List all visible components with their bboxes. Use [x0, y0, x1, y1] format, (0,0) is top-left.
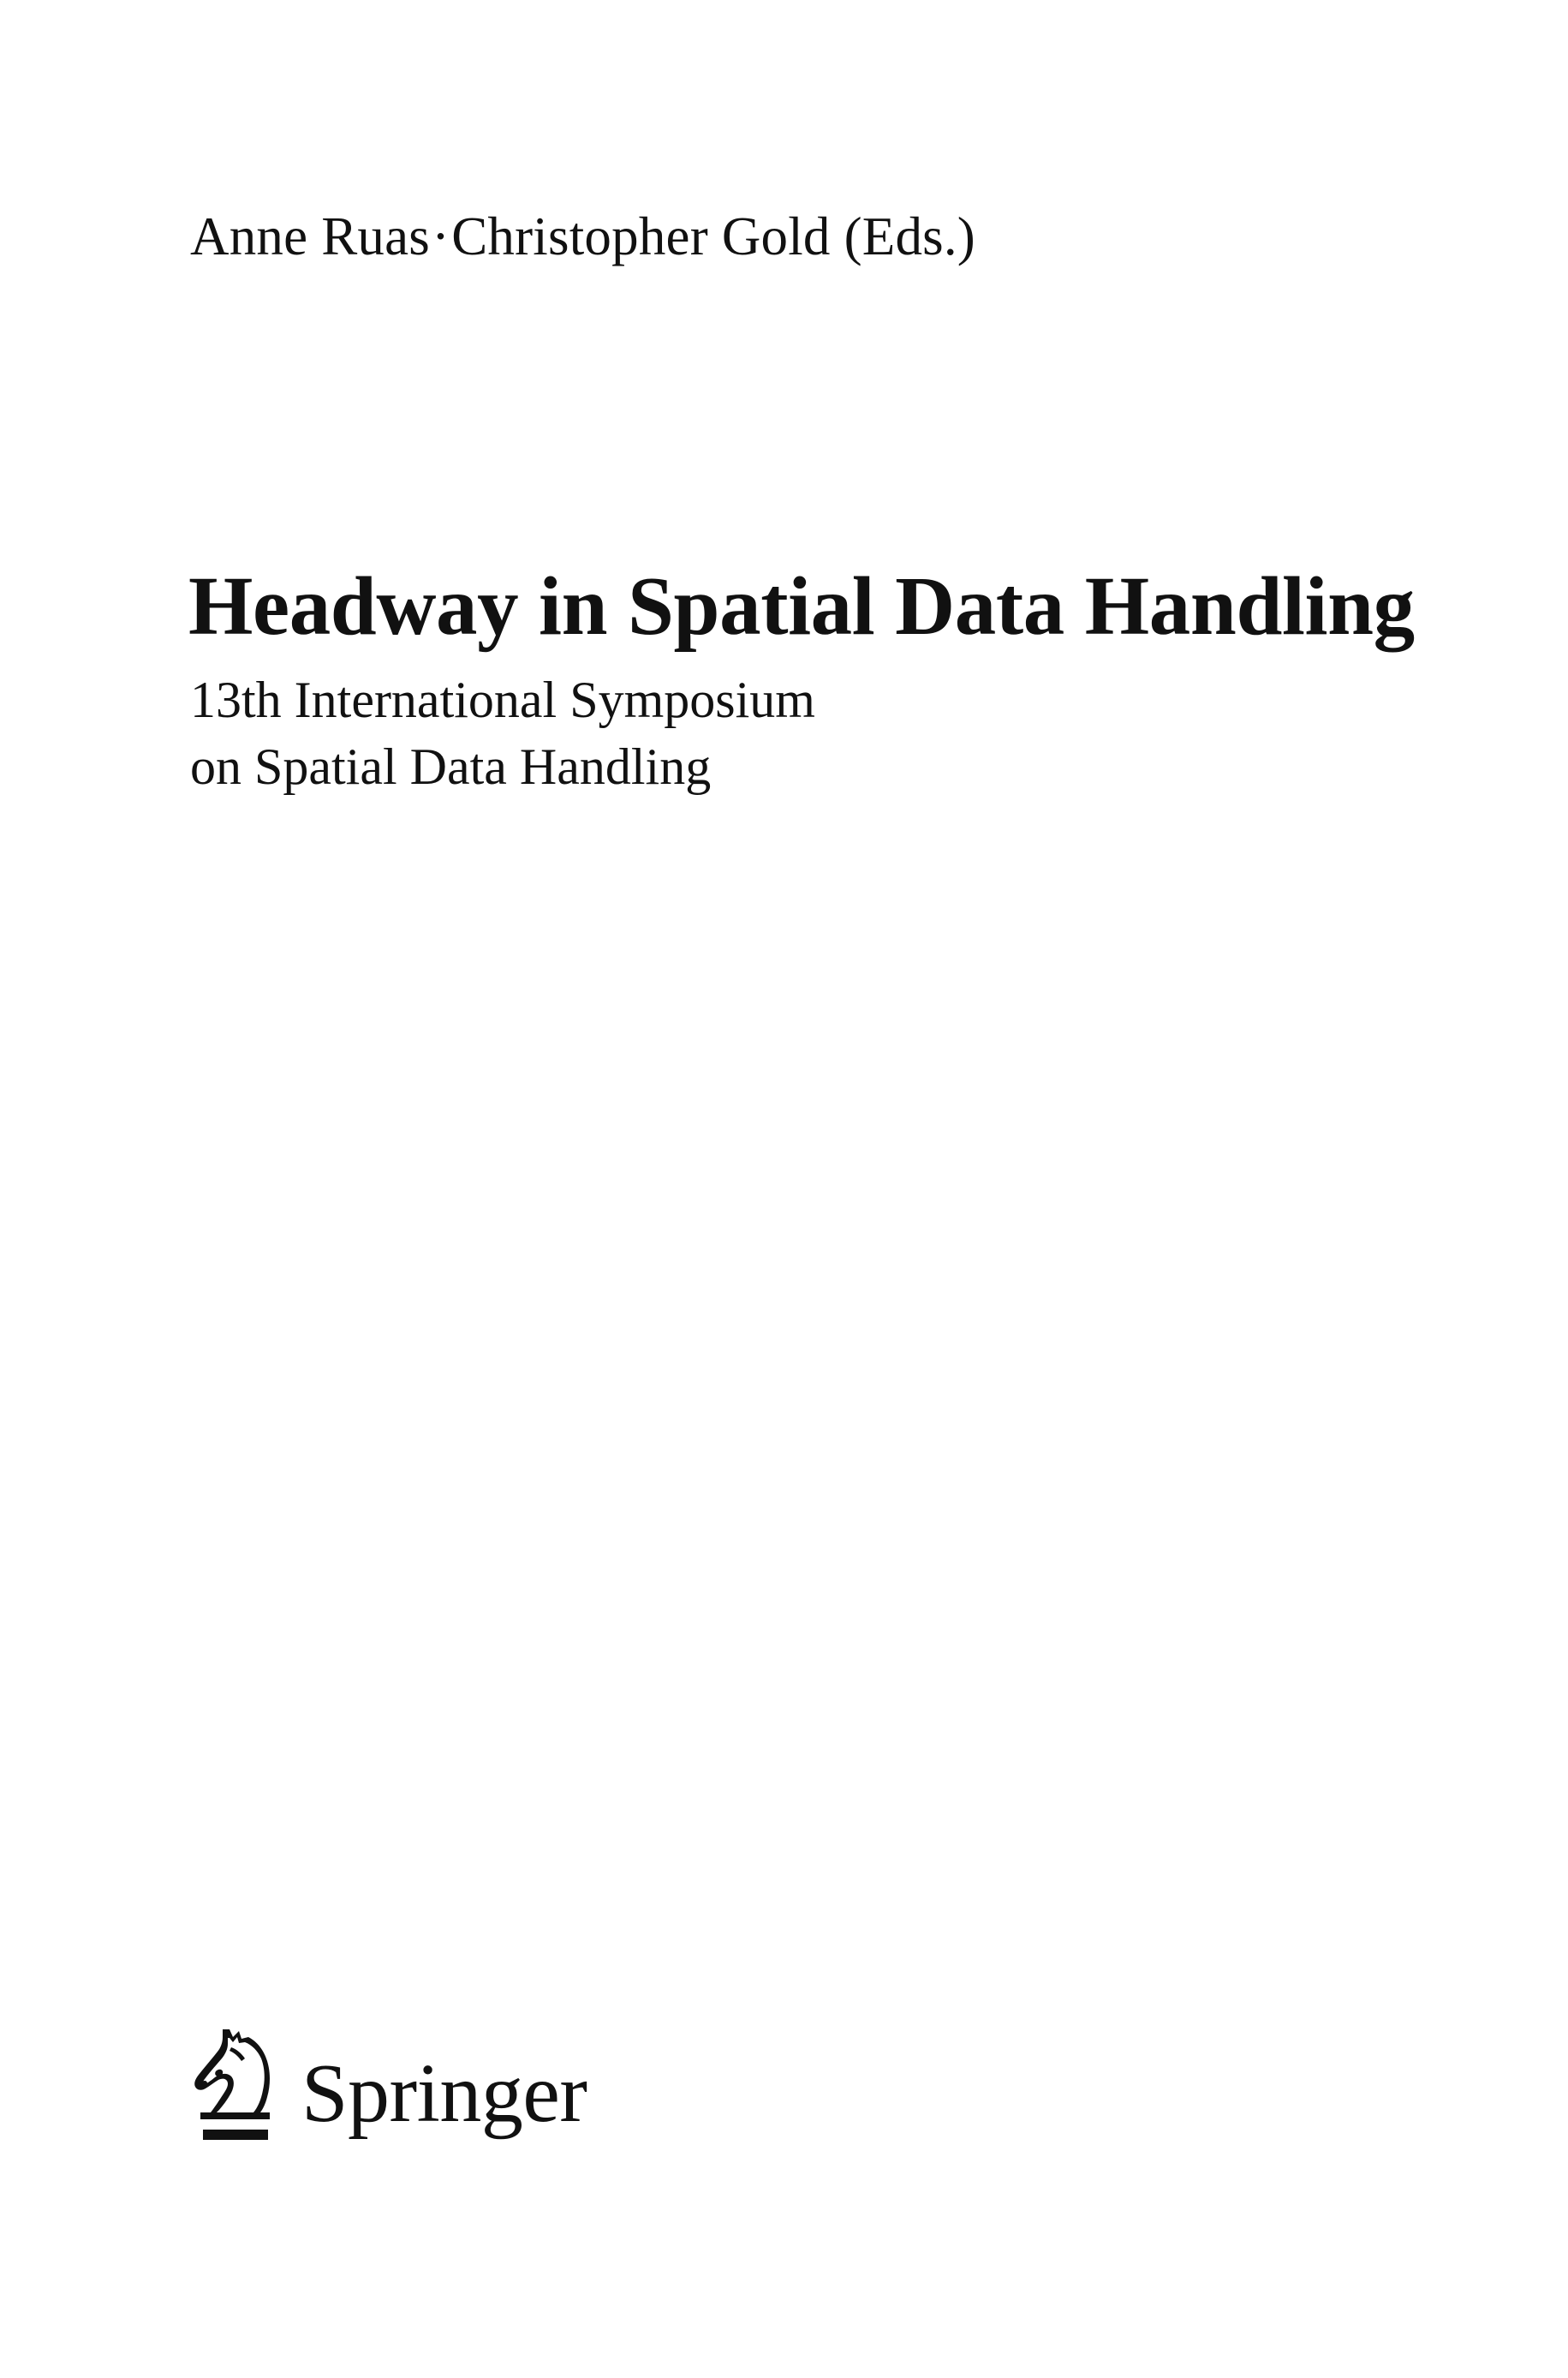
editor-name-first: Anne Ruas	[190, 206, 430, 266]
editors-line: Anne Ruas·Christopher Gold (Eds.)	[190, 208, 975, 266]
editors-role-suffix: (Eds.)	[844, 206, 975, 266]
subtitle-line-2: on Spatial Data Handling	[190, 733, 815, 800]
publisher-name: Springer	[301, 2058, 587, 2130]
springer-knight-icon	[190, 2027, 279, 2143]
page-title: Headway in Spatial Data Handling	[188, 563, 1415, 650]
publisher-logo: Springer	[190, 2027, 587, 2143]
subtitle-block: 13th International Symposium on Spatial …	[190, 666, 815, 800]
subtitle-line-1: 13th International Symposium	[190, 666, 815, 733]
book-title-page: Anne Ruas·Christopher Gold (Eds.) Headwa…	[0, 0, 1568, 2378]
editor-name-second: Christopher Gold	[451, 206, 830, 266]
editor-separator-dot: ·	[430, 206, 451, 266]
